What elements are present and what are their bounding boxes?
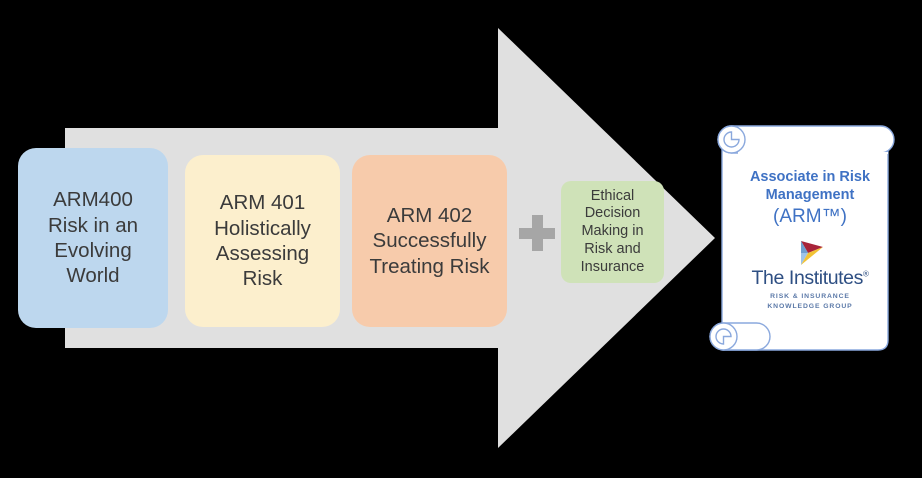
plus-icon-vertical-bar bbox=[532, 215, 543, 251]
plus-icon bbox=[519, 215, 555, 251]
credential-content: Associate in RiskManagement (ARM™) The I… bbox=[730, 166, 890, 346]
course-label-arm402: ARM 402SuccessfullyTreating Risk bbox=[358, 203, 501, 279]
course-label-arm401: ARM 401HolisticallyAssessingRisk bbox=[191, 190, 334, 292]
institutes-wordmark: The Institutes® bbox=[752, 267, 869, 290]
registered-mark: ® bbox=[863, 270, 869, 279]
institutes-tagline: RISK & INSURANCE KNOWLEDGE GROUP bbox=[767, 292, 852, 312]
course-box-arm402[interactable]: ARM 402SuccessfullyTreating Risk bbox=[352, 155, 507, 327]
course-box-arm400[interactable]: ARM400Risk in anEvolvingWorld bbox=[18, 148, 168, 328]
credential-acronym: (ARM™) bbox=[773, 206, 847, 229]
institutes-tagline-line1: RISK & INSURANCE bbox=[767, 292, 852, 302]
credential-title: Associate in RiskManagement bbox=[750, 168, 870, 205]
institutes-triangle-logo-icon bbox=[795, 240, 825, 266]
institutes-tagline-line2: KNOWLEDGE GROUP bbox=[767, 302, 852, 312]
institutes-wordmark-text: The Institutes bbox=[752, 267, 863, 289]
diagram-canvas: ARM400Risk in anEvolvingWorld ARM 401Hol… bbox=[0, 0, 922, 478]
course-box-arm401[interactable]: ARM 401HolisticallyAssessingRisk bbox=[185, 155, 340, 327]
elective-box-ethics[interactable]: EthicalDecisionMaking inRisk andInsuranc… bbox=[561, 181, 664, 283]
the-institutes-logo: The Institutes® RISK & INSURANCE KNOWLED… bbox=[752, 240, 869, 312]
elective-label-ethics: EthicalDecisionMaking inRisk andInsuranc… bbox=[567, 188, 658, 276]
course-label-arm400: ARM400Risk in anEvolvingWorld bbox=[24, 187, 162, 289]
credential-scroll[interactable]: Associate in RiskManagement (ARM™) The I… bbox=[700, 118, 910, 358]
